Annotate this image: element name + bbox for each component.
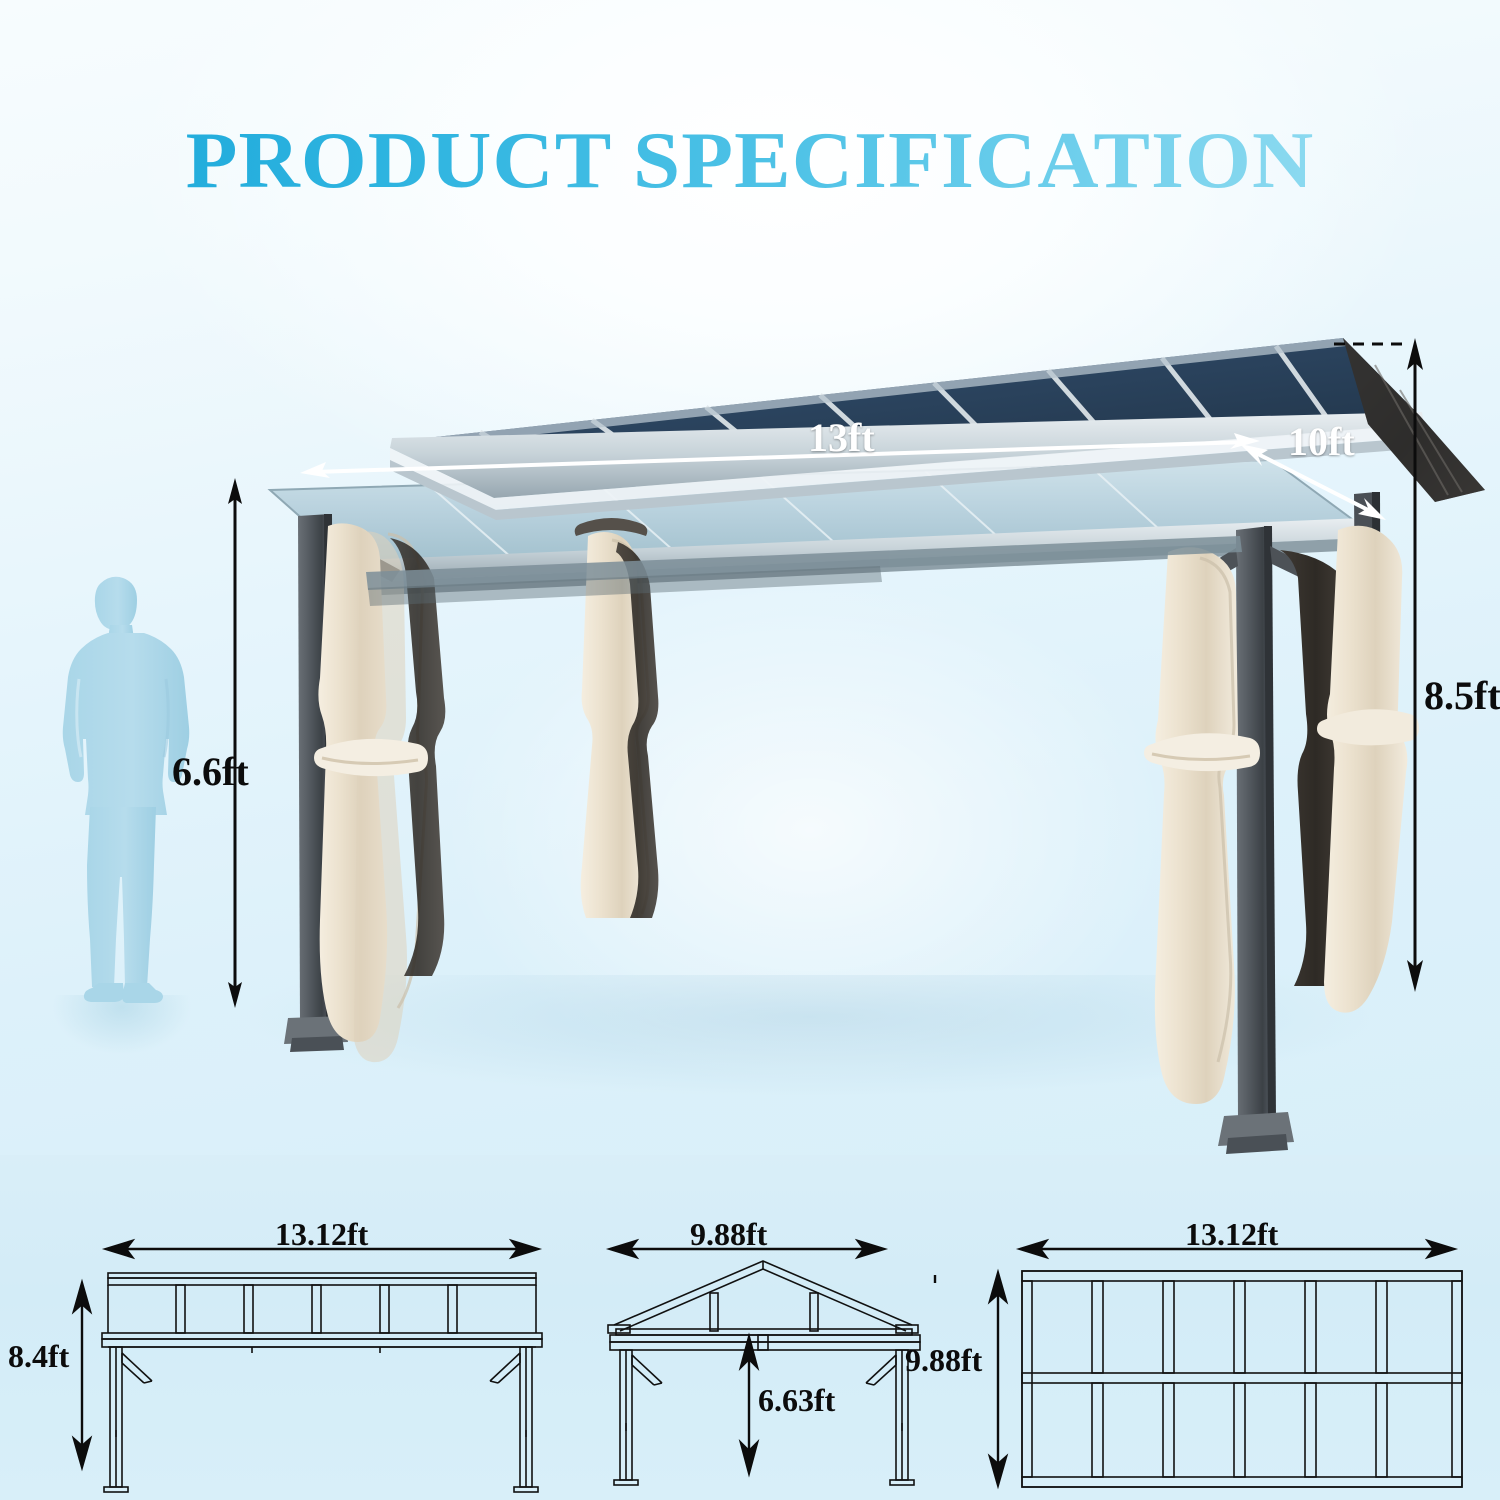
dimension-label-side-height: 8.4ft	[8, 1338, 69, 1375]
product-specification-page: PRODUCT SPECIFICATION	[0, 0, 1500, 1500]
dimension-label-overall-height: 8.5ft	[1424, 672, 1500, 719]
dimension-overall-height-line	[1320, 330, 1430, 1010]
dimension-label-plan-width: 13.12ft	[1185, 1216, 1278, 1253]
dimension-label-human-height: 6.6ft	[172, 748, 249, 795]
dimension-label-roof-width: 13ft	[808, 414, 875, 461]
dimension-roof-width-arrow	[300, 420, 1280, 480]
page-title: PRODUCT SPECIFICATION	[0, 116, 1500, 207]
dimension-label-front-width: 9.88ft	[690, 1216, 767, 1253]
dimension-label-side-width: 13.12ft	[275, 1216, 368, 1253]
dimension-label-front-clearance: 6.63ft	[758, 1382, 835, 1419]
